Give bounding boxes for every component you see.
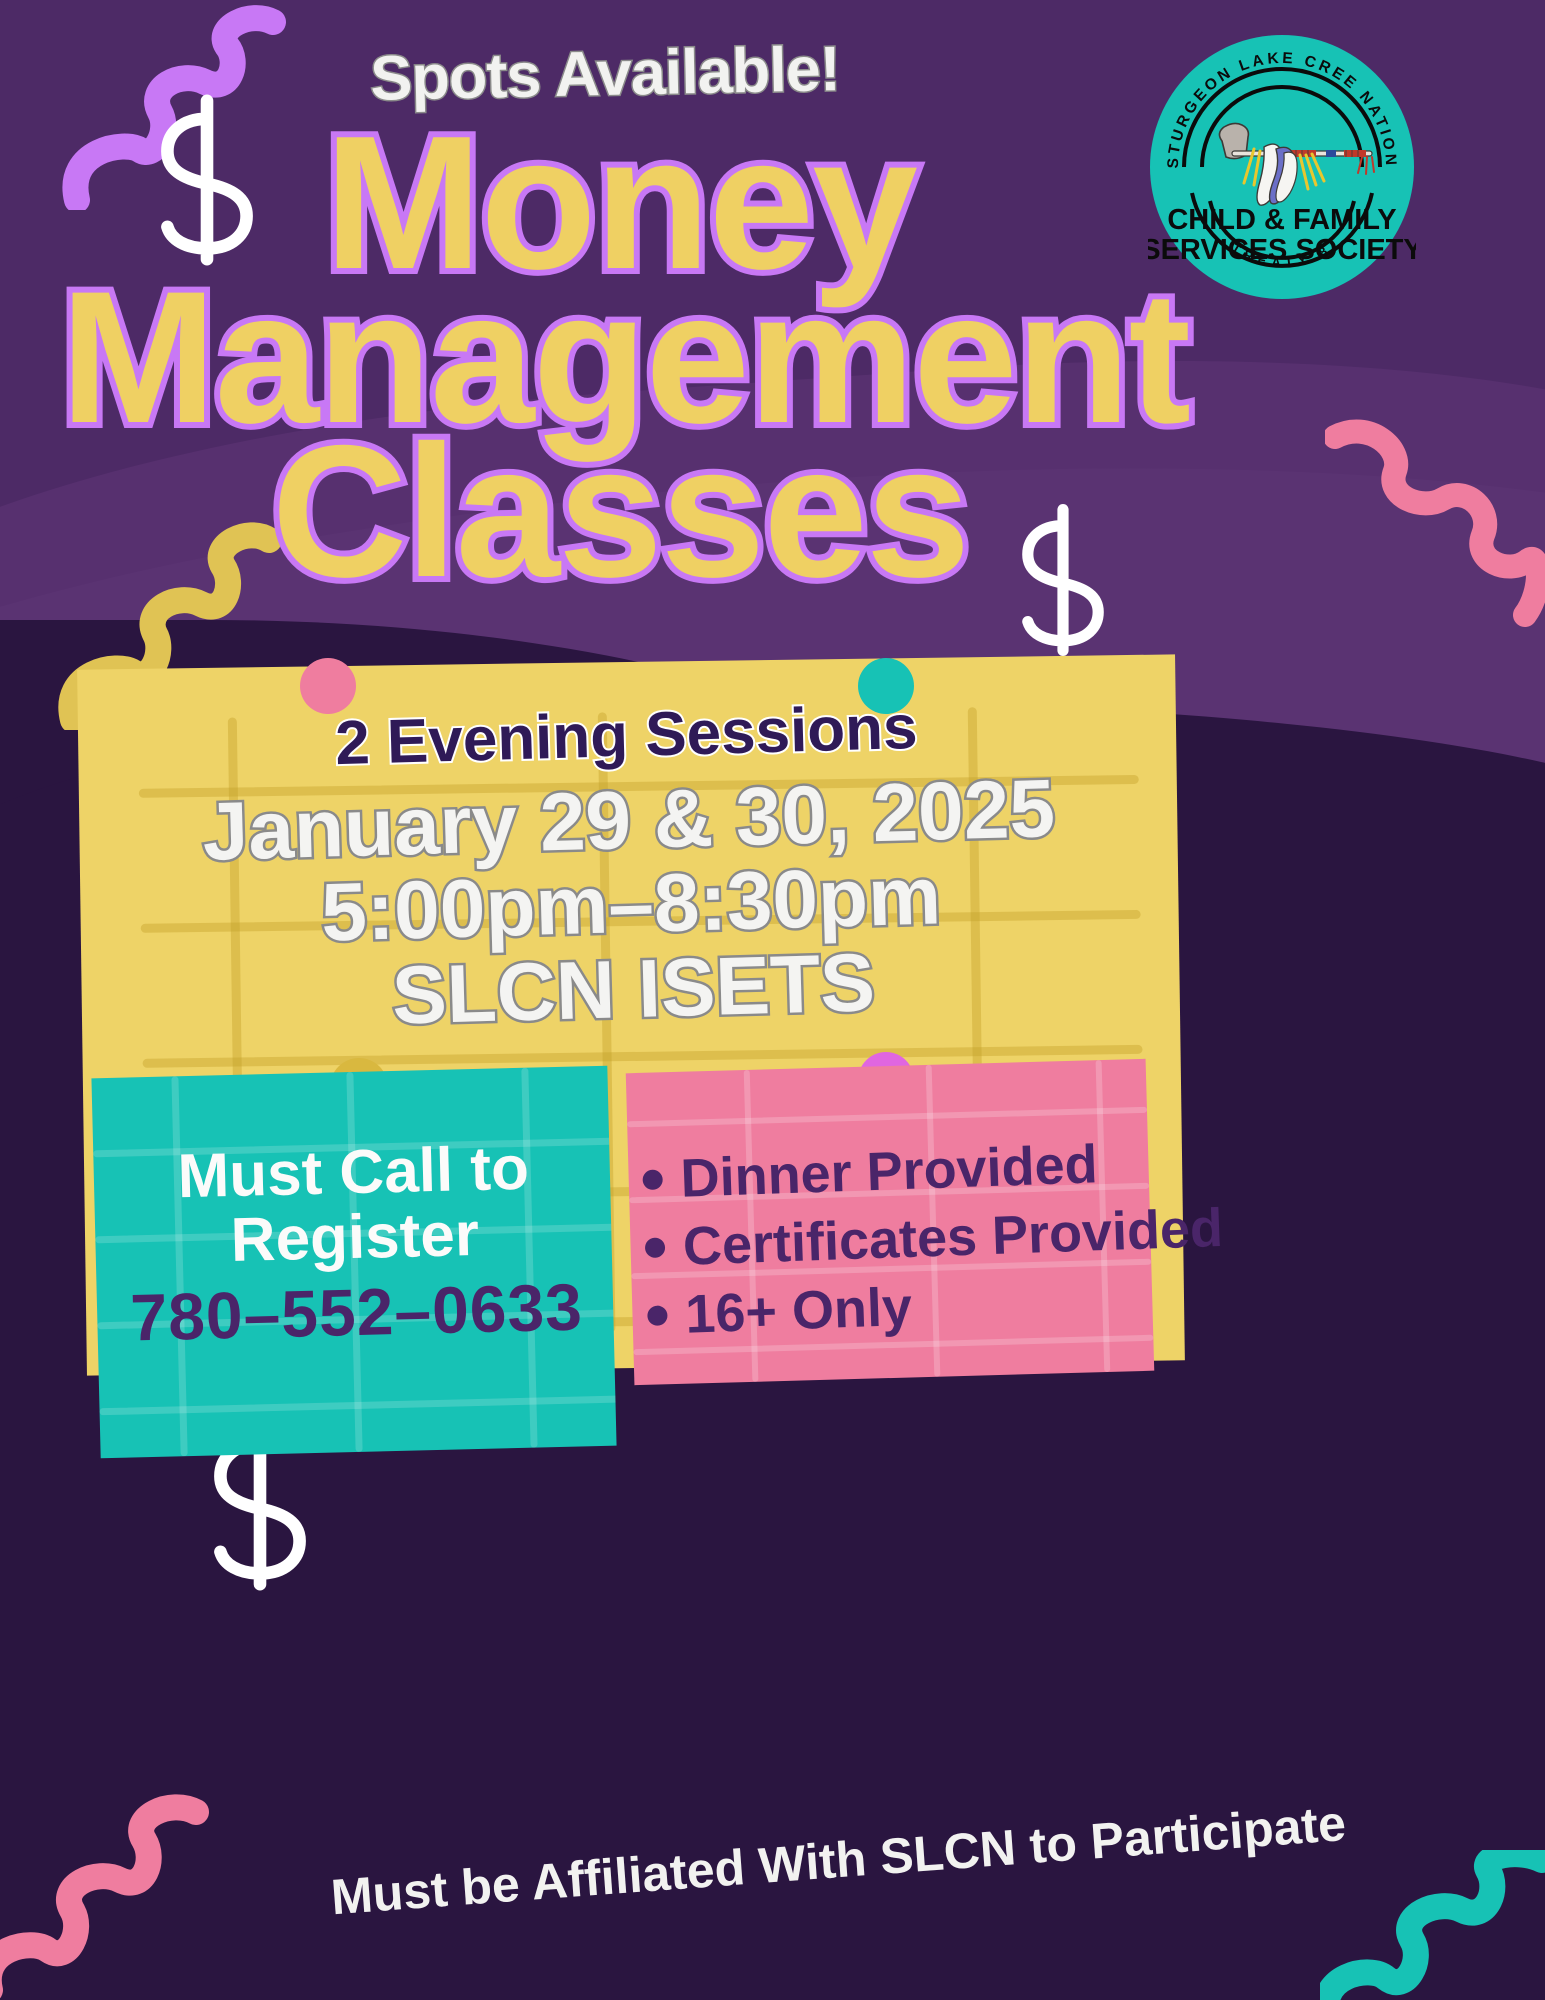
logo-name-line-2: SERVICES SOCIETY xyxy=(1148,234,1416,266)
perk-label: Dinner Provided xyxy=(680,1133,1099,1210)
grid-line xyxy=(627,1107,1147,1128)
pink-dot xyxy=(300,658,356,714)
list-item: 16+ Only xyxy=(646,1267,1168,1347)
page-title: Money Management Classes xyxy=(60,120,1180,594)
register-phone-number[interactable]: 780–552–0633 xyxy=(101,1268,613,1356)
bullet-icon xyxy=(642,1169,663,1190)
details-text-group: 2 Evening Sessions January 29 & 30, 2025… xyxy=(96,685,1165,1047)
poster-canvas: Spots Available! Money Management Classe… xyxy=(0,0,1545,2000)
slcn-cfss-logo: STURGEON LAKE CREE NATION TREATY 8 xyxy=(1148,33,1416,301)
perks-list: Dinner Provided Certificates Provided 16… xyxy=(642,1131,1169,1353)
bullet-icon xyxy=(645,1237,666,1258)
perk-label: Certificates Provided xyxy=(682,1197,1224,1278)
perk-label: 16+ Only xyxy=(684,1276,913,1346)
register-heading-line-1: Must Call to xyxy=(98,1134,609,1212)
register-text-group: Must Call to Register 780–552–0633 xyxy=(98,1134,613,1357)
bullet-icon xyxy=(647,1305,668,1326)
logo-name-line-1: CHILD & FAMILY xyxy=(1167,204,1396,236)
teal-dot xyxy=(858,658,914,714)
list-item: Certificates Provided xyxy=(644,1199,1166,1279)
register-heading-line-2: Register xyxy=(99,1199,610,1277)
